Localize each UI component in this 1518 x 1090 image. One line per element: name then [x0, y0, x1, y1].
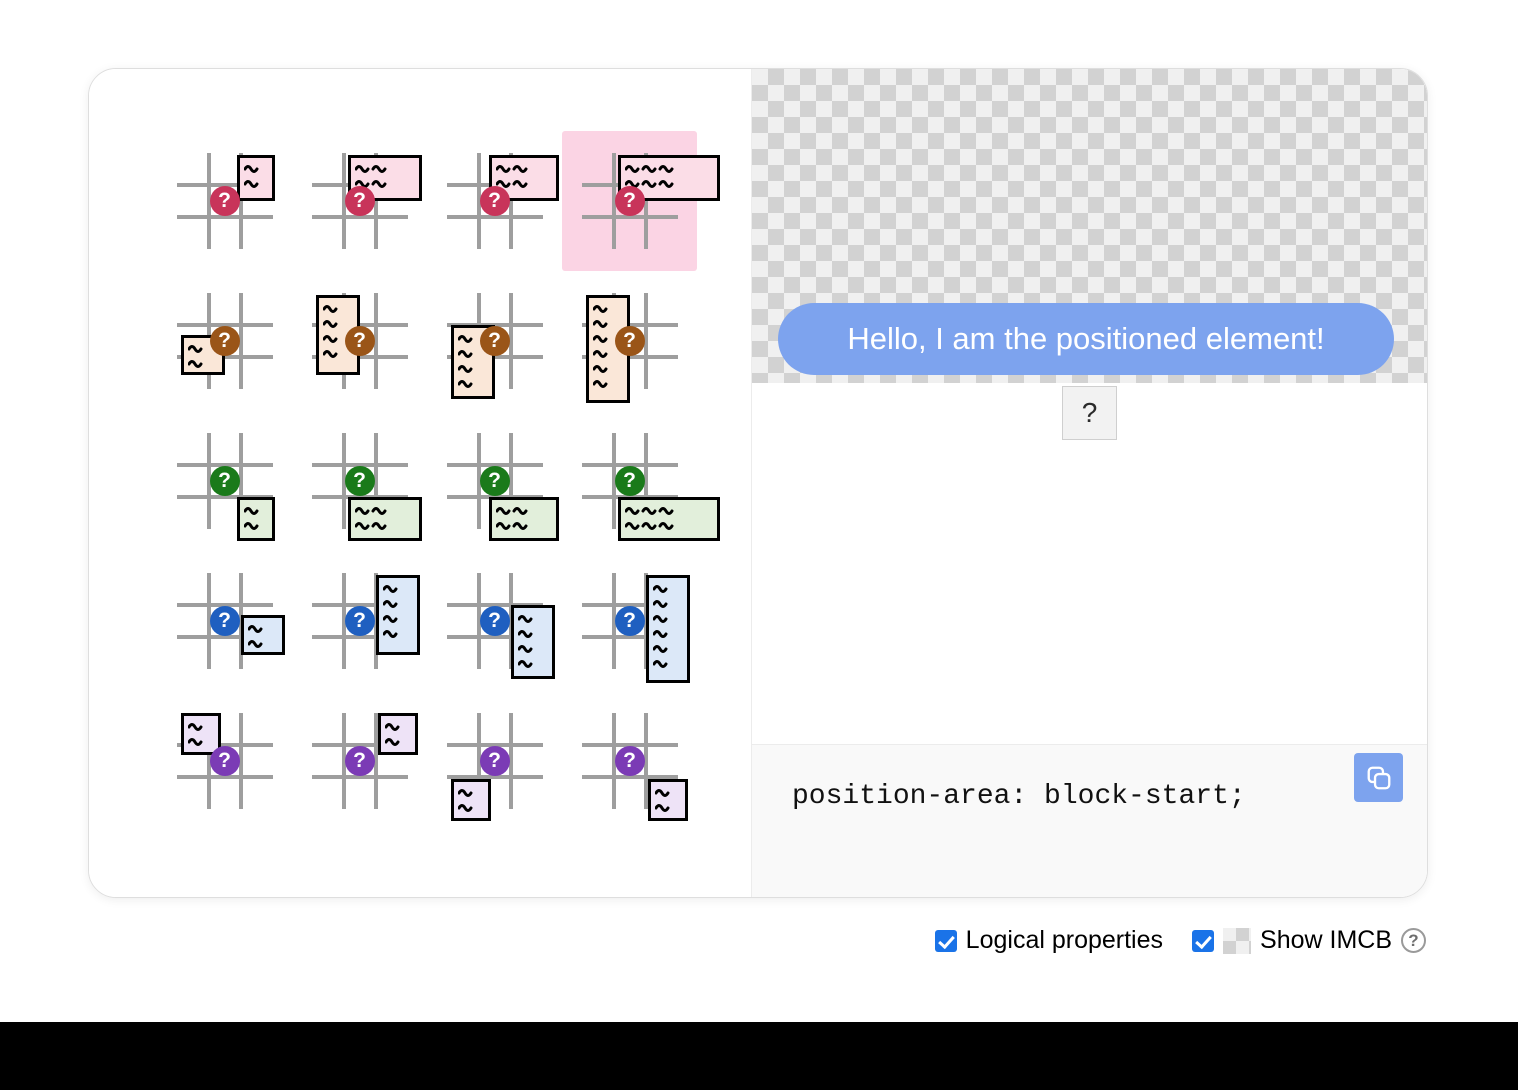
- text-squiggle-icon: [653, 581, 670, 671]
- anchor-marker-icon: ?: [615, 186, 645, 216]
- containing-block-grid-guide: ?: [447, 573, 543, 669]
- text-squiggle-icon: [188, 719, 205, 749]
- logical-properties-checkbox[interactable]: [935, 930, 957, 952]
- text-squiggle-icon: [323, 301, 340, 361]
- position-area-card: ???????????????????? Hello, I am the pos…: [88, 68, 1428, 898]
- containing-block-grid-guide: ?: [177, 293, 273, 389]
- text-squiggle-icon: [244, 161, 261, 191]
- anchor-marker-icon: ?: [480, 466, 510, 496]
- show-imcb-checkbox[interactable]: [1192, 930, 1214, 952]
- positioned-box-preview: [489, 497, 559, 541]
- position-area-option[interactable]: ?: [292, 551, 427, 691]
- positioned-box-preview: [648, 779, 688, 821]
- anchor-marker-icon: ?: [210, 606, 240, 636]
- code-panel: position-area: block-start;: [752, 744, 1427, 897]
- position-area-option[interactable]: ?: [562, 131, 697, 271]
- demo-pane: Hello, I am the positioned element! ? po…: [751, 69, 1427, 897]
- containing-block-grid-guide: ?: [312, 153, 408, 249]
- position-area-picker-pane: ????????????????????: [89, 69, 751, 897]
- positioned-box-preview: [241, 615, 285, 655]
- text-squiggle-icon: [458, 785, 475, 815]
- containing-block-grid-guide: ?: [312, 433, 408, 529]
- containing-block-grid-guide: ?: [312, 293, 408, 389]
- text-squiggle-icon: [518, 611, 535, 671]
- containing-block-grid-guide: ?: [582, 433, 678, 529]
- positioned-box-preview: [378, 713, 418, 755]
- css-declaration-text: position-area: block-start;: [792, 781, 1246, 812]
- containing-block-grid-guide: ?: [582, 153, 678, 249]
- containing-block-grid-guide: ?: [177, 573, 273, 669]
- text-squiggle-icon: [593, 301, 610, 391]
- anchor-marker-icon: ?: [345, 186, 375, 216]
- anchor-marker-icon: ?: [615, 466, 645, 496]
- anchor-marker-icon: ?: [210, 326, 240, 356]
- text-squiggle-icon: [188, 341, 205, 371]
- position-area-option[interactable]: ?: [427, 551, 562, 691]
- anchor-marker-icon: ?: [210, 746, 240, 776]
- position-area-option[interactable]: ?: [157, 551, 292, 691]
- positioned-box-preview: [237, 497, 275, 541]
- position-area-option[interactable]: ?: [427, 691, 562, 831]
- anchor-marker-icon: ?: [210, 186, 240, 216]
- position-area-option[interactable]: ?: [157, 271, 292, 411]
- position-area-option[interactable]: ?: [427, 271, 562, 411]
- text-squiggle-icon: [385, 719, 402, 749]
- position-area-option[interactable]: ?: [427, 411, 562, 551]
- text-squiggle-icon: [655, 785, 672, 815]
- position-area-option[interactable]: ?: [562, 271, 697, 411]
- position-area-option[interactable]: ?: [562, 411, 697, 551]
- positioned-box-preview: [511, 605, 555, 679]
- position-area-option[interactable]: ?: [157, 691, 292, 831]
- anchor-marker-icon: ?: [480, 326, 510, 356]
- containing-block-grid-guide: ?: [177, 153, 273, 249]
- text-squiggle-icon: [496, 503, 530, 533]
- position-area-option[interactable]: ?: [292, 271, 427, 411]
- positioned-element: Hello, I am the positioned element!: [778, 303, 1394, 375]
- containing-block-grid-guide: ?: [582, 573, 678, 669]
- help-icon[interactable]: ?: [1401, 928, 1426, 953]
- anchor-marker-icon: ?: [615, 606, 645, 636]
- anchor-marker-icon: ?: [480, 606, 510, 636]
- containing-block-grid-guide: ?: [312, 713, 408, 809]
- anchor-marker-icon: ?: [615, 326, 645, 356]
- logical-properties-label[interactable]: Logical properties: [966, 926, 1163, 955]
- containing-block-grid-guide: ?: [447, 713, 543, 809]
- text-squiggle-icon: [625, 503, 676, 533]
- anchor-marker-icon: ?: [480, 746, 510, 776]
- anchor-marker-icon: ?: [345, 746, 375, 776]
- position-area-option[interactable]: ?: [157, 131, 292, 271]
- anchor-element: ?: [1062, 386, 1117, 440]
- containing-block-grid-guide: ?: [447, 293, 543, 389]
- position-area-option[interactable]: ?: [427, 131, 562, 271]
- containing-block-grid-guide: ?: [312, 573, 408, 669]
- text-squiggle-icon: [355, 503, 389, 533]
- anchor-marker-icon: ?: [480, 186, 510, 216]
- positioned-box-preview: [646, 575, 690, 683]
- text-squiggle-icon: [248, 621, 265, 651]
- text-squiggle-icon: [458, 331, 475, 391]
- positioned-box-preview: [376, 575, 420, 655]
- anchor-marker-icon: ?: [615, 746, 645, 776]
- text-squiggle-icon: [244, 503, 261, 533]
- imcb-swatch-icon: [1223, 928, 1251, 954]
- anchor-marker-icon: ?: [345, 466, 375, 496]
- containing-block-grid-guide: ?: [447, 433, 543, 529]
- anchor-marker-icon: ?: [345, 326, 375, 356]
- position-area-option[interactable]: ?: [157, 411, 292, 551]
- show-imcb-label[interactable]: Show IMCB: [1260, 926, 1392, 955]
- position-area-option[interactable]: ?: [292, 691, 427, 831]
- positioned-box-preview: [451, 779, 491, 821]
- positioned-box-preview: [348, 497, 422, 541]
- position-area-option[interactable]: ?: [562, 691, 697, 831]
- positioned-box-preview: [237, 155, 275, 201]
- anchor-marker-icon: ?: [210, 466, 240, 496]
- app-root: ???????????????????? Hello, I am the pos…: [0, 0, 1518, 1090]
- containing-block-grid-guide: ?: [447, 153, 543, 249]
- position-area-option[interactable]: ?: [292, 411, 427, 551]
- position-area-option[interactable]: ?: [562, 551, 697, 691]
- positioned-box-preview: [618, 497, 720, 541]
- containing-block-grid-guide: ?: [582, 713, 678, 809]
- text-squiggle-icon: [383, 581, 400, 641]
- containing-block-grid-guide: ?: [177, 713, 273, 809]
- bottom-letterbox-bar: [0, 1022, 1518, 1090]
- copy-icon: [1365, 764, 1393, 792]
- copy-icon-button[interactable]: [1354, 753, 1403, 802]
- footer-controls: Logical properties Show IMCB ?: [935, 926, 1426, 955]
- position-area-option[interactable]: ?: [292, 131, 427, 271]
- containing-block-grid-guide: ?: [582, 293, 678, 389]
- anchor-marker-icon: ?: [345, 606, 375, 636]
- position-area-picker-grid[interactable]: ????????????????????: [157, 131, 697, 831]
- containing-block-grid-guide: ?: [177, 433, 273, 529]
